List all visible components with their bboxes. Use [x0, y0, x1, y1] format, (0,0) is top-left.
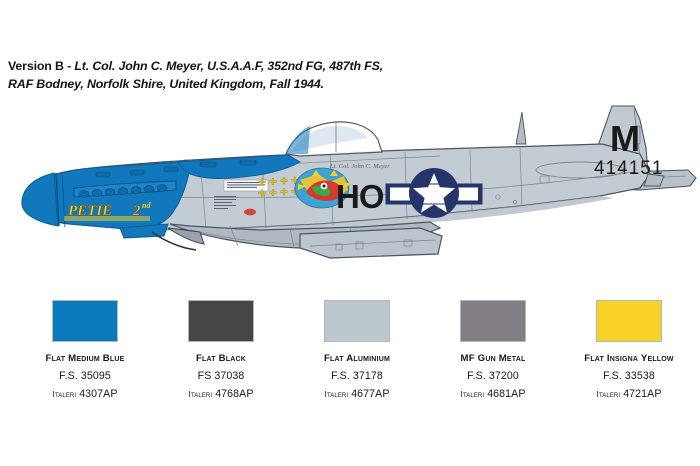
color-name: Flat Insigna Yellow [584, 353, 673, 364]
nose-art-ordinal: nd [142, 201, 151, 210]
aircraft-profile-illustration: PETIE 2 nd Lt. Col. John C. Meyer [0, 96, 700, 291]
paint-code: Italeri 4307AP [52, 388, 117, 400]
swatch-item: Flat Aluminium F.S. 37178 Italeri 4677AP [292, 300, 422, 430]
caption-line-2: RAF Bodney, Norfolk Shire, United Kingdo… [8, 76, 608, 94]
color-name: Flat Medium Blue [46, 353, 125, 364]
version-label: Version B [8, 59, 64, 73]
caption-line-1: Lt. Col. John C. Meyer, U.S.A.A.F, 352nd… [74, 59, 383, 73]
brand-name: Italeri [596, 389, 620, 399]
version-caption: Version B - Lt. Col. John C. Meyer, U.S.… [8, 58, 608, 93]
paint-code: Italeri 4768AP [188, 388, 253, 400]
paint-code: Italeri 4721AP [596, 388, 661, 400]
color-chip [324, 300, 390, 342]
swatch-item: Flat Medium Blue F.S. 35095 Italeri 4307… [20, 300, 150, 430]
brand-name: Italeri [188, 389, 212, 399]
warning-marking [244, 209, 256, 216]
brand-code: 4721AP [623, 388, 661, 400]
color-chip [596, 300, 662, 342]
paint-code: Italeri 4681AP [460, 388, 525, 400]
caption-separator: - [64, 59, 75, 73]
brand-name: Italeri [324, 389, 348, 399]
color-chip [52, 300, 118, 342]
antenna-mast [516, 112, 526, 144]
swatch-item: Flat Insigna Yellow F.S. 33538 Italeri 4… [564, 300, 694, 430]
pilot-name-script: Lt. Col. John C. Meyer [329, 163, 390, 170]
fs-code: F.S. 37200 [467, 370, 519, 382]
paint-code: Italeri 4677AP [324, 388, 389, 400]
brand-name: Italeri [460, 389, 484, 399]
fs-code: FS 37038 [198, 370, 245, 382]
fs-code: F.S. 35095 [59, 370, 111, 382]
belly-radiator-scoop [300, 228, 442, 258]
tail-letter-code: M [610, 118, 640, 159]
brand-code: 4768AP [215, 388, 253, 400]
nose-art-petie-2nd: PETIE 2 nd [64, 201, 151, 221]
color-chip [460, 300, 526, 342]
fuselage-code-ho: HO [336, 178, 384, 215]
fs-code: F.S. 37178 [331, 370, 383, 382]
paint-color-legend: Flat Medium Blue F.S. 35095 Italeri 4307… [0, 300, 700, 430]
color-name: MF Gun Metal [461, 353, 526, 364]
brand-code: 4681AP [487, 388, 525, 400]
swatch-item: Flat Black FS 37038 Italeri 4768AP [156, 300, 286, 430]
color-chip [188, 300, 254, 342]
rudder-lower [644, 174, 664, 186]
fs-code: F.S. 33538 [603, 370, 655, 382]
swatch-item: MF Gun Metal F.S. 37200 Italeri 4681AP [428, 300, 558, 430]
brand-name: Italeri [52, 389, 76, 399]
color-name: Flat Aluminium [324, 353, 390, 364]
bubble-canopy [286, 122, 382, 156]
brand-code: 4307AP [79, 388, 117, 400]
brand-code: 4677AP [351, 388, 389, 400]
color-name: Flat Black [196, 353, 246, 364]
